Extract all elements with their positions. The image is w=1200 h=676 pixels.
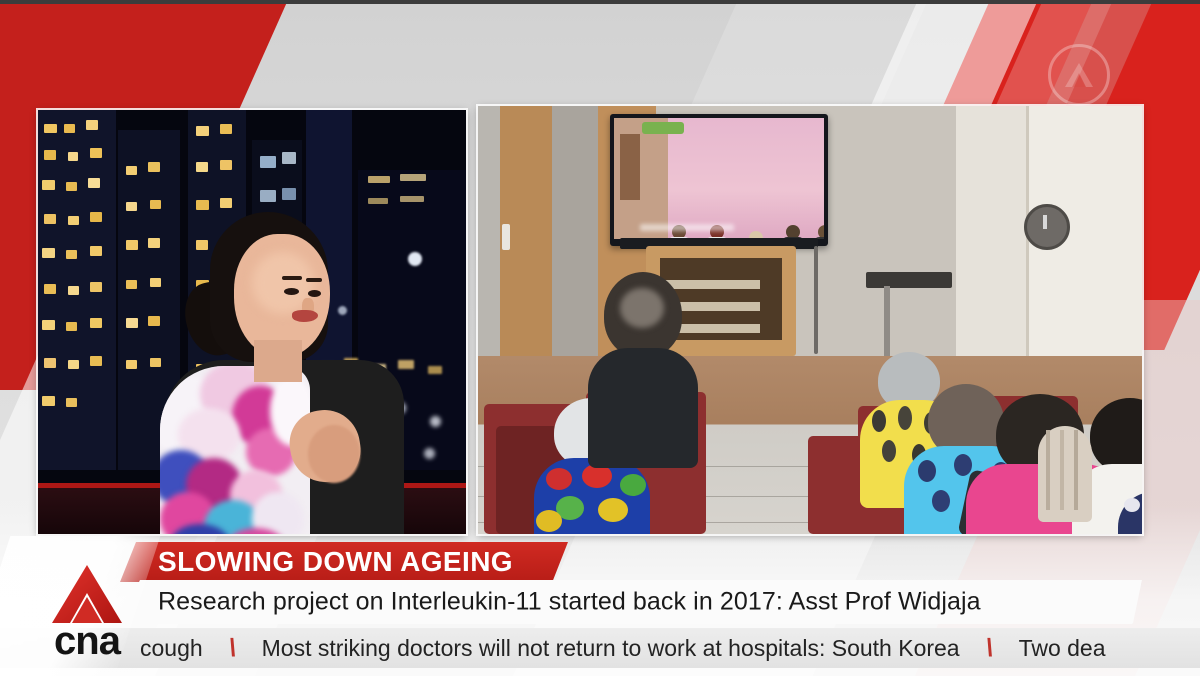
- wall-clock-icon: [1024, 204, 1070, 250]
- ticker-separator: \: [227, 634, 237, 663]
- guest-neck: [254, 340, 302, 382]
- wall-mounted-tv: [610, 114, 828, 246]
- news-ticker: cough \ Most striking doctors will not r…: [0, 628, 1200, 668]
- ticker-item: Two dea: [1019, 635, 1106, 662]
- video-panel-left: [38, 110, 466, 534]
- broadcast-screen: SLOWING DOWN AGEING Research project on …: [0, 0, 1200, 676]
- tv-caption-text: [640, 224, 734, 231]
- video-panel-right: [478, 106, 1142, 534]
- tv-screen-content: [614, 118, 824, 239]
- cna-logo: cna: [32, 554, 142, 658]
- ticker-item: cough: [140, 635, 203, 662]
- interview-guest: [158, 210, 408, 534]
- ticker-item: Most striking doctors will not return to…: [262, 635, 960, 662]
- guest-floral-blouse: [160, 366, 310, 534]
- headline-text: Research project on Interleukin-11 start…: [158, 588, 981, 617]
- headline-bar: Research project on Interleukin-11 start…: [118, 580, 1142, 624]
- guest-hands-shadow: [308, 425, 360, 483]
- ticker-items: cough \ Most striking doctors will not r…: [140, 628, 1200, 668]
- audience-member: [1038, 406, 1092, 516]
- audience-member: [1118, 492, 1142, 534]
- kicker-banner: SLOWING DOWN AGEING: [120, 542, 568, 582]
- audience-member: [586, 272, 696, 462]
- video-panels: [0, 0, 1200, 560]
- cna-triangle-logo-icon: [48, 563, 126, 625]
- ticker-separator: \: [984, 634, 994, 663]
- community-hall: [478, 106, 1142, 534]
- kicker-text: SLOWING DOWN AGEING: [158, 546, 513, 578]
- lower-third: SLOWING DOWN AGEING Research project on …: [0, 530, 1200, 676]
- cna-wordmark: cna: [54, 625, 120, 658]
